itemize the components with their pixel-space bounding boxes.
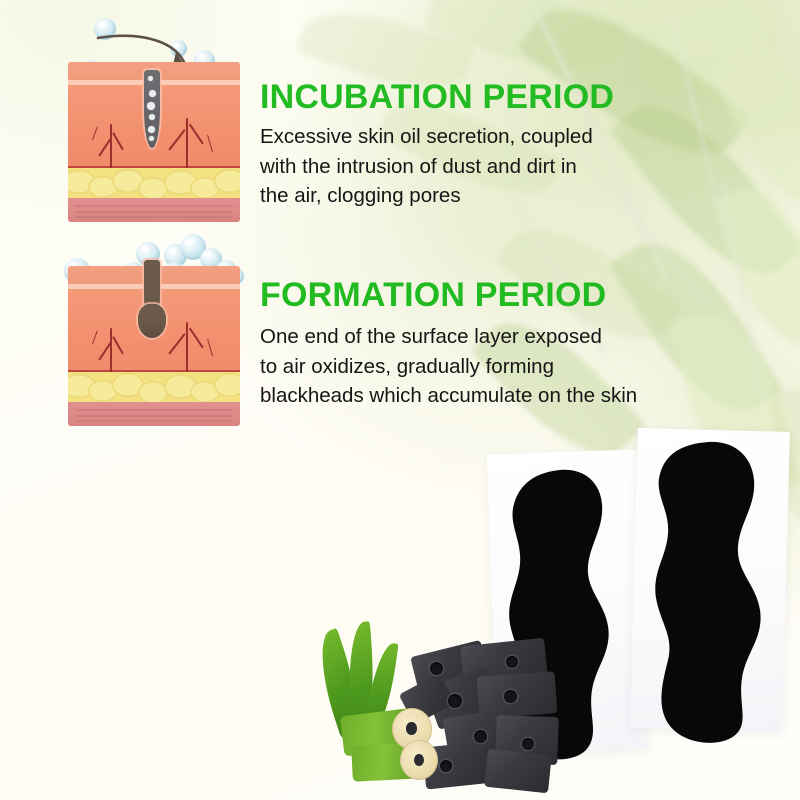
clogged-pore [144,70,160,148]
charcoal-piece [484,749,552,793]
skin-diagram-formation [68,266,240,426]
charcoal-hole [430,662,443,675]
charcoal-hole [448,694,462,708]
capillary [90,328,136,372]
body-formation: One end of the surface layer exposed to … [260,322,637,411]
heading-formation: FORMATION PERIOD [260,276,606,315]
bamboo-cut-end [400,740,438,780]
body-line: with the intrusion of dust and dirt in [260,152,593,182]
body-line: to air oxidizes, gradually forming [260,352,637,382]
charcoal-hole [506,656,518,668]
bamboo-charcoal-group [318,620,558,796]
body-line: Excessive skin oil secretion, coupled [260,122,593,152]
capillary [90,124,136,168]
body-line: One end of the surface layer exposed [260,322,637,352]
body-line: the air, clogging pores [260,181,593,211]
body-line: blackheads which accumulate on the skin [260,381,637,411]
blackhead-plug-bulb [138,304,166,338]
charcoal-hole [474,730,487,743]
charcoal-hole [522,738,534,750]
skin-diagram-incubation [68,62,240,222]
capillary [160,118,220,168]
charcoal-hole [504,690,517,703]
heading-incubation: INCUBATION PERIOD [260,78,614,117]
body-incubation: Excessive skin oil secretion, coupled wi… [260,122,593,211]
nose-strip-right [630,438,795,748]
capillary [160,322,220,372]
charcoal-hole [440,760,452,772]
infographic-page: INCUBATION PERIOD Excessive skin oil sec… [0,0,800,800]
